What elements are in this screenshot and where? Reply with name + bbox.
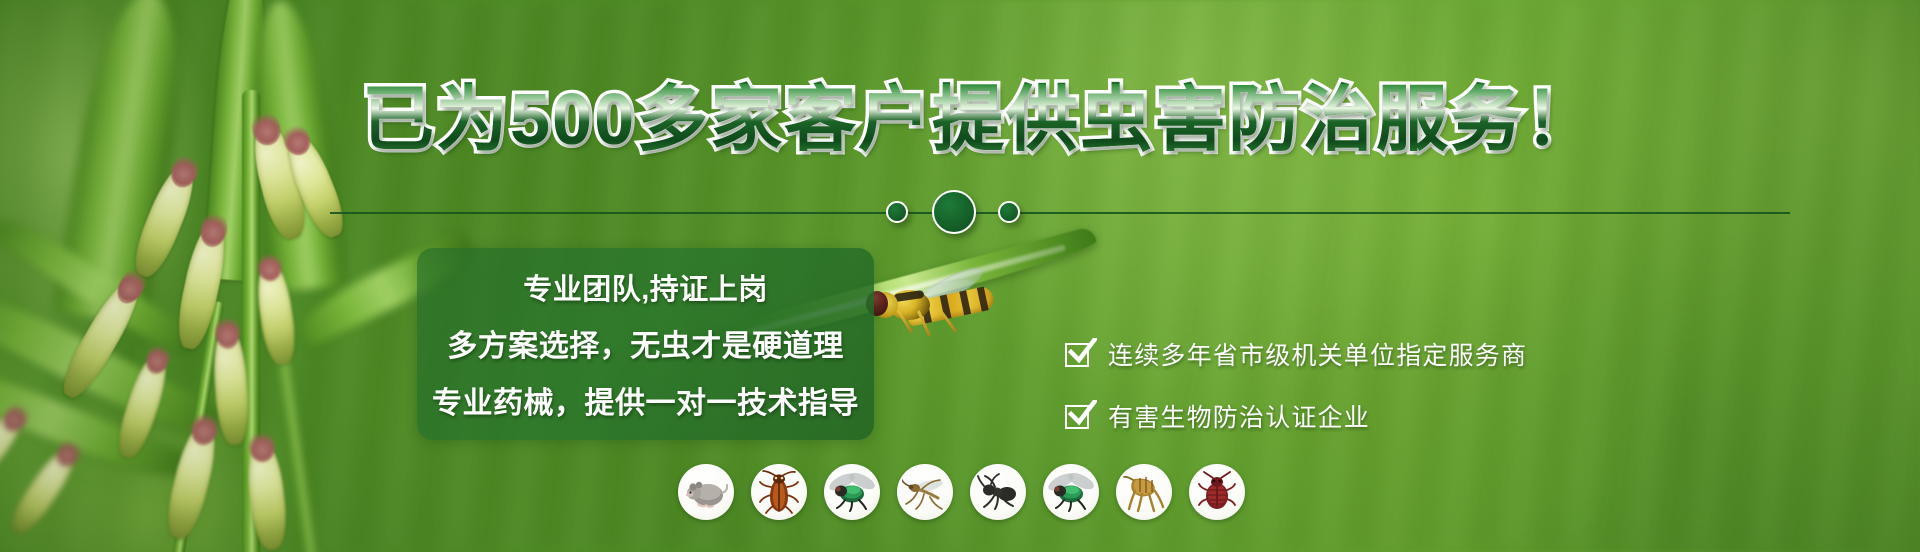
fly-band [977,287,989,312]
decor-dot-large [932,190,976,234]
checkbox-checked-icon [1065,402,1093,430]
decor-dot-small-right [998,201,1020,223]
checkbox-checked-icon [1065,340,1093,368]
panel-line-1: 专业团队,持证上岗 [523,266,768,308]
horizontal-rule [330,212,1790,214]
panel-line-2: 多方案选择，无虫才是硬道理 [447,321,844,365]
housefly-icon[interactable] [824,464,880,520]
housefly-icon-2[interactable] [1043,464,1099,520]
selling-points-panel: 专业团队,持证上岗 多方案选择，无虫才是硬道理 专业药械，提供一对一技术指导 [417,248,874,440]
pest-types-row [678,464,1245,520]
checklist-item: 连续多年省市级机关单位指定服务商 [1065,336,1527,372]
checklist-item-label: 连续多年省市级机关单位指定服务商 [1108,336,1527,372]
checklist-item-label: 有害生物防治认证企业 [1108,398,1370,434]
bedbug-icon[interactable] [1189,464,1245,520]
ant-icon[interactable] [970,464,1026,520]
rodent-icon[interactable] [678,464,734,520]
credentials-checklist: 连续多年省市级机关单位指定服务商 有害生物防治认证企业 [1065,336,1527,434]
pest-control-hero-banner: 已为500多家客户提供虫害防治服务！ 已为500多家客户提供虫害防治服务！ 专业… [0,0,1920,552]
mosquito-icon[interactable] [897,464,953,520]
checklist-item: 有害生物防治认证企业 [1065,398,1527,434]
cockroach-icon[interactable] [751,464,807,520]
flea-icon[interactable] [1116,464,1172,520]
fly-band [959,290,971,315]
page-title: 已为500多家客户提供虫害防治服务！ [362,84,1598,156]
panel-line-3: 专业药械，提供一对一技术指导 [432,378,859,422]
hoverfly-icon [858,278,998,344]
decor-dot-small-left [886,201,908,223]
